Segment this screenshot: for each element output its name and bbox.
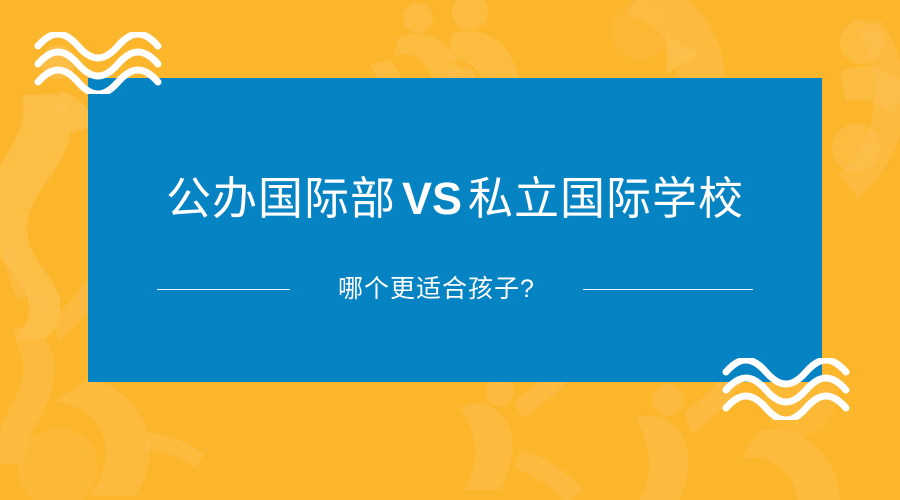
- subtitle: 哪个更适合孩子?: [338, 277, 535, 302]
- subtitle-row: 哪个更适合孩子?: [88, 277, 822, 302]
- title-vs-token: VS: [396, 173, 468, 224]
- divider-rule-left: [157, 289, 290, 290]
- title-left-part: 公办国际部: [166, 173, 396, 224]
- poster-canvas: 公办国际部VS私立国际学校 哪个更适合孩子?: [0, 0, 900, 500]
- title-right-part: 私立国际学校: [468, 173, 744, 224]
- title-block: 公办国际部VS私立国际学校 哪个更适合孩子?: [88, 78, 822, 382]
- page-title: 公办国际部VS私立国际学校: [166, 176, 744, 221]
- divider-rule-right: [583, 289, 753, 290]
